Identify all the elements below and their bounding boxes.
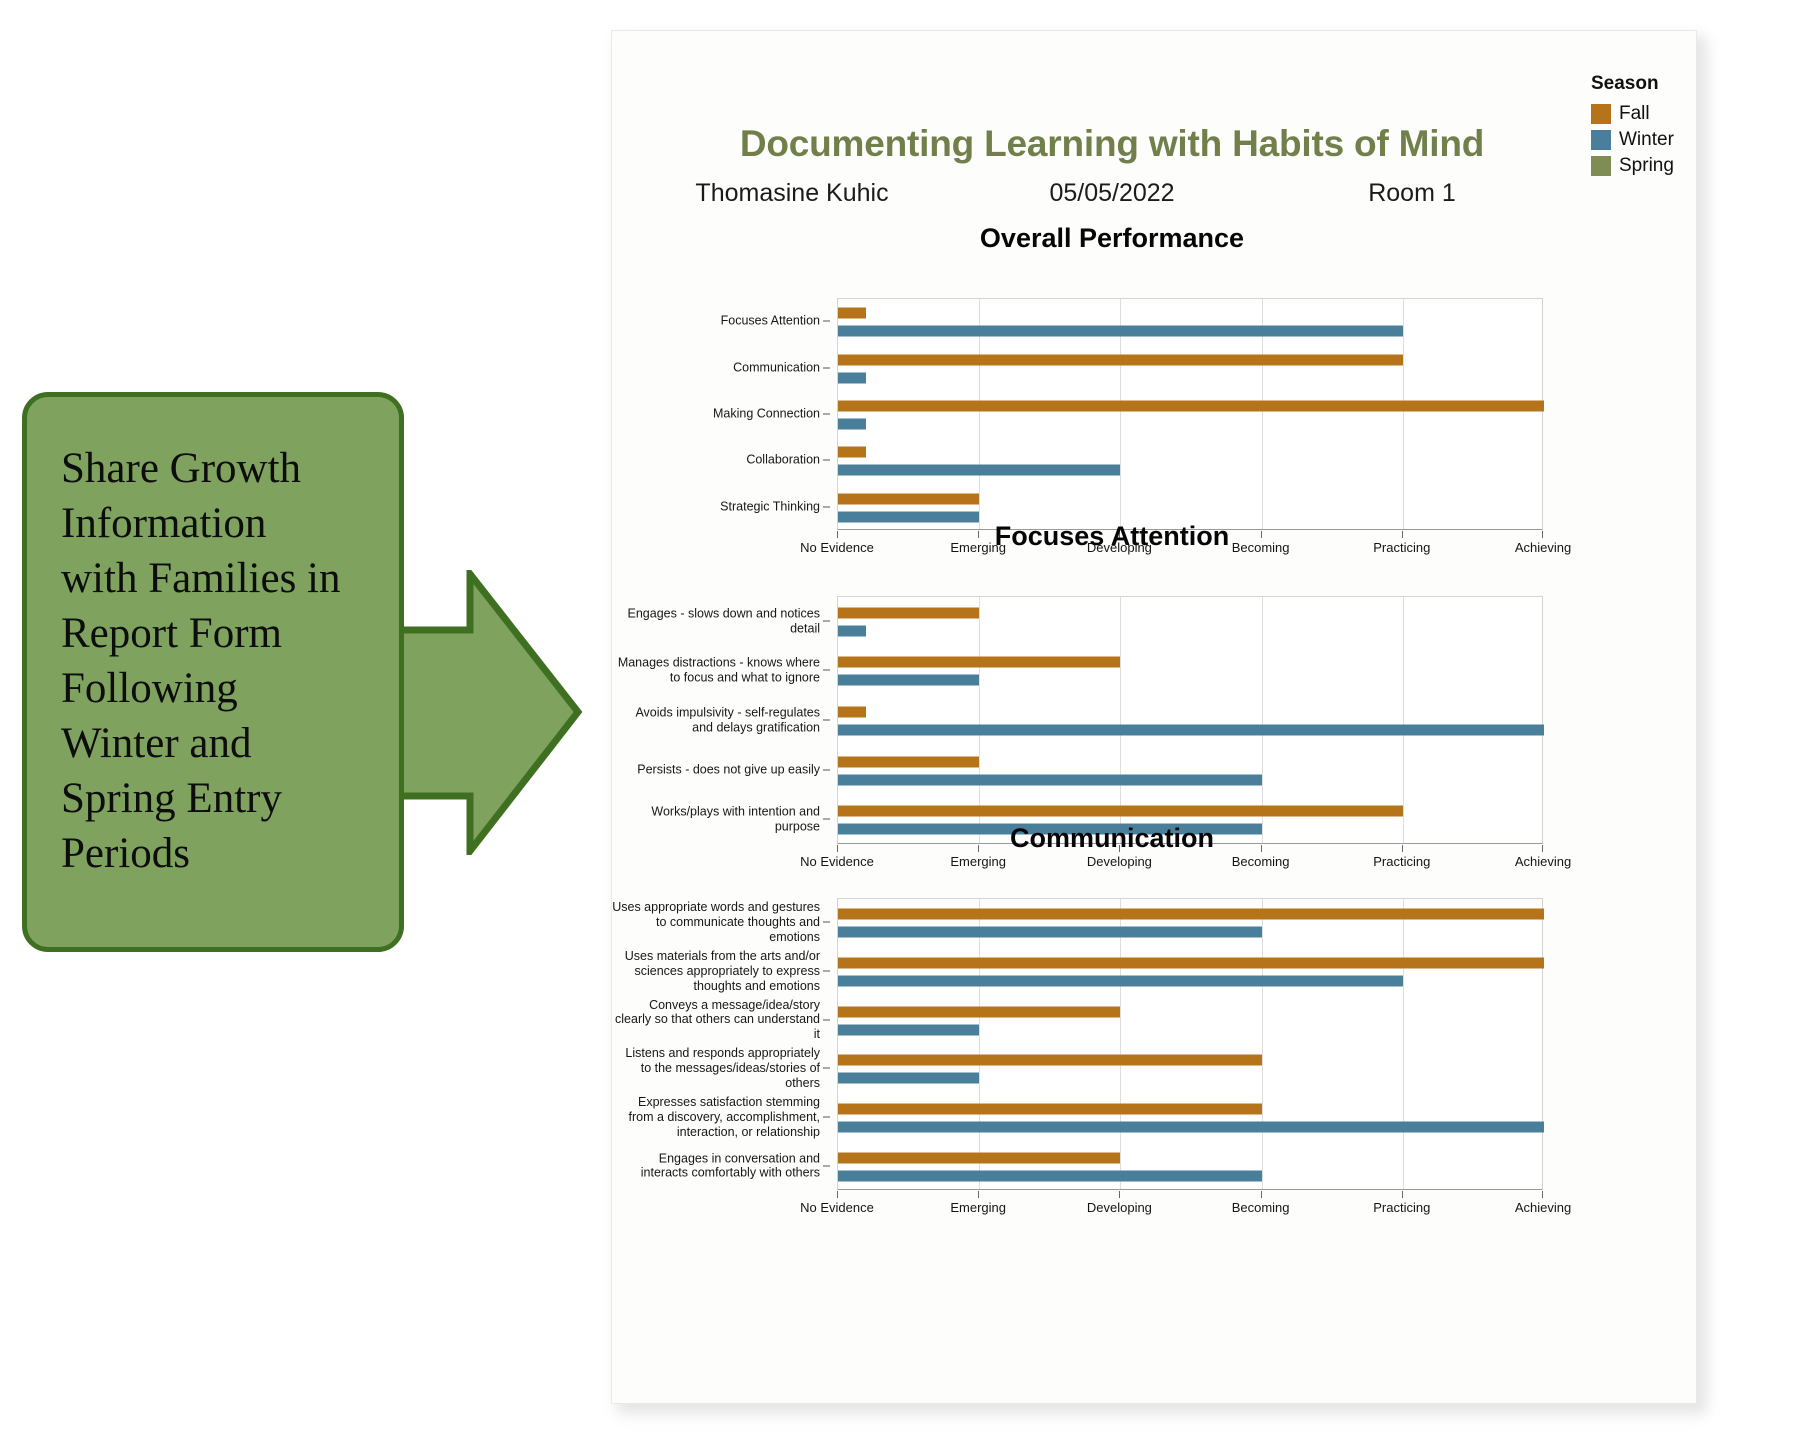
bar-winter[interactable] — [838, 675, 979, 686]
category-label: Engages in conversation and interacts co… — [612, 1151, 820, 1181]
report-meta-row: Thomasine Kuhic 05/05/2022 Room 1 — [612, 179, 1612, 213]
category-label: Avoids impulsivity - self-regulates and … — [612, 705, 820, 735]
bar-winter[interactable] — [838, 625, 866, 636]
legend-item-spring[interactable]: Spring — [1591, 153, 1697, 179]
bar-winter[interactable] — [838, 1170, 1262, 1181]
category-tick — [823, 1019, 830, 1020]
category-labels: Uses appropriate words and gestures to c… — [612, 898, 830, 1190]
chart-communication: CommunicationUses appropriate words and … — [612, 823, 1697, 1190]
x-tick-label: Achieving — [1515, 1200, 1571, 1215]
bar-winter[interactable] — [838, 326, 1403, 337]
bar-fall[interactable] — [838, 308, 866, 319]
bar-winter[interactable] — [838, 1122, 1544, 1133]
plot-wrapper: Engages - slows down and notices detailM… — [612, 596, 1697, 844]
callout-annotation: Share Growth Information with Families i… — [22, 392, 552, 972]
x-tick — [978, 1191, 979, 1198]
category-tick — [823, 367, 830, 368]
report-date: 05/05/2022 — [952, 179, 1272, 208]
x-axis: No EvidenceEmergingDevelopingBecomingPra… — [837, 1191, 1543, 1221]
category-tick — [823, 971, 830, 972]
chart-title: Communication — [612, 823, 1612, 854]
page-title: Documenting Learning with Habits of Mind — [612, 123, 1612, 165]
bar-winter[interactable] — [838, 465, 1120, 476]
bar-fall[interactable] — [838, 958, 1544, 969]
category-label: Making Connection — [612, 407, 820, 422]
callout-text: Share Growth Information with Families i… — [61, 441, 365, 881]
bar-winter[interactable] — [838, 927, 1262, 938]
category-tick — [823, 1165, 830, 1166]
x-tick-label: Emerging — [950, 1200, 1006, 1215]
category-labels: Engages - slows down and notices detailM… — [612, 596, 830, 844]
legend-item-label: Spring — [1619, 155, 1674, 177]
bar-winter[interactable] — [838, 1073, 979, 1084]
chart-title: Focuses Attention — [612, 521, 1612, 552]
legend-item-label: Fall — [1619, 103, 1650, 125]
category-label: Engages - slows down and notices detail — [612, 606, 820, 636]
category-tick — [823, 670, 830, 671]
x-tick — [1402, 1191, 1403, 1198]
legend-title: Season — [1591, 73, 1697, 95]
x-tick — [837, 1191, 838, 1198]
bar-fall[interactable] — [838, 1152, 1120, 1163]
room-label: Room 1 — [1252, 179, 1572, 208]
category-label: Expresses satisfaction stemming from a d… — [612, 1095, 820, 1139]
gridline — [1403, 299, 1404, 529]
gridline — [979, 899, 980, 1189]
legend-item-fall[interactable]: Fall — [1591, 101, 1697, 127]
callout-box: Share Growth Information with Families i… — [22, 392, 404, 952]
category-tick — [823, 922, 830, 923]
x-tick-label: Practicing — [1373, 1200, 1430, 1215]
plot-area — [837, 596, 1543, 844]
category-label: Uses materials from the arts and/or scie… — [612, 949, 820, 993]
bar-winter[interactable] — [838, 774, 1262, 785]
bar-fall[interactable] — [838, 354, 1403, 365]
bar-fall[interactable] — [838, 806, 1403, 817]
category-tick — [823, 620, 830, 621]
season-legend: Season FallWinterSpring — [1587, 69, 1697, 183]
bar-winter[interactable] — [838, 976, 1403, 987]
category-tick — [823, 1068, 830, 1069]
bar-fall[interactable] — [838, 447, 866, 458]
plot-wrapper: Focuses AttentionCommunicationMaking Con… — [612, 298, 1697, 530]
plot-area — [837, 898, 1543, 1190]
gridline — [1403, 899, 1404, 1189]
category-tick — [823, 720, 830, 721]
x-tick-label: Becoming — [1232, 1200, 1290, 1215]
category-tick — [823, 460, 830, 461]
category-label: Listens and responds appropriately to th… — [612, 1046, 820, 1090]
legend-swatch-icon — [1591, 130, 1611, 150]
legend-items: FallWinterSpring — [1591, 101, 1697, 179]
category-tick — [823, 321, 830, 322]
bar-fall[interactable] — [838, 1104, 1262, 1115]
x-tick — [1261, 1191, 1262, 1198]
category-label: Strategic Thinking — [612, 499, 820, 514]
category-label: Communication — [612, 360, 820, 375]
bar-fall[interactable] — [838, 909, 1544, 920]
plot-wrapper: Uses appropriate words and gestures to c… — [612, 898, 1697, 1190]
bar-fall[interactable] — [838, 707, 866, 718]
gridline — [1120, 899, 1121, 1189]
bar-fall[interactable] — [838, 493, 979, 504]
category-tick — [823, 819, 830, 820]
bar-fall[interactable] — [838, 756, 979, 767]
bar-fall[interactable] — [838, 401, 1544, 412]
category-tick — [823, 506, 830, 507]
legend-item-label: Winter — [1619, 129, 1674, 151]
category-tick — [823, 414, 830, 415]
category-label: Collaboration — [612, 453, 820, 468]
x-tick-label: No Evidence — [800, 1200, 874, 1215]
bar-winter[interactable] — [838, 372, 866, 383]
bar-fall[interactable] — [838, 657, 1120, 668]
bar-winter[interactable] — [838, 1024, 979, 1035]
x-tick — [1542, 1191, 1543, 1198]
bar-fall[interactable] — [838, 1006, 1120, 1017]
legend-swatch-icon — [1591, 156, 1611, 176]
category-label: Manages distractions - knows where to fo… — [612, 656, 820, 686]
category-label: Focuses Attention — [612, 314, 820, 329]
bar-fall[interactable] — [838, 1055, 1262, 1066]
bar-fall[interactable] — [838, 607, 979, 618]
category-labels: Focuses AttentionCommunicationMaking Con… — [612, 298, 830, 530]
category-tick — [823, 769, 830, 770]
bar-winter[interactable] — [838, 419, 866, 430]
student-name: Thomasine Kuhic — [612, 179, 972, 208]
gridline — [1403, 597, 1404, 843]
category-label: Uses appropriate words and gestures to c… — [612, 900, 820, 944]
gridline — [1262, 899, 1263, 1189]
category-tick — [823, 1117, 830, 1118]
report-page: Documenting Learning with Habits of Mind… — [611, 30, 1697, 1404]
plot-area — [837, 298, 1543, 530]
category-label: Persists - does not give up easily — [612, 762, 820, 777]
x-tick — [1119, 1191, 1120, 1198]
category-label: Conveys a message/idea/story clearly so … — [612, 998, 820, 1042]
chart-overall-performance: Overall PerformanceFocuses AttentionComm… — [612, 223, 1697, 530]
chart-title: Overall Performance — [612, 223, 1612, 254]
legend-item-winter[interactable]: Winter — [1591, 127, 1697, 153]
legend-swatch-icon — [1591, 104, 1611, 124]
chart-focuses-attention: Focuses AttentionEngages - slows down an… — [612, 521, 1697, 844]
bar-winter[interactable] — [838, 725, 1544, 736]
x-tick-label: Developing — [1087, 1200, 1152, 1215]
